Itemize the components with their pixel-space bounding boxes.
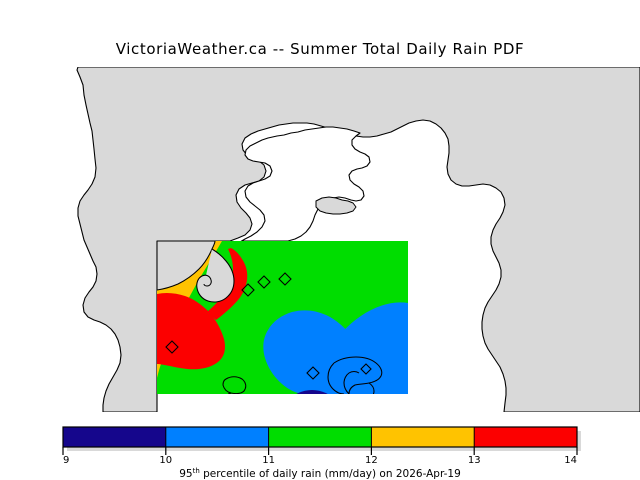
colorbar-caption-rest: percentile of daily rain (mm/day) on 202… [200,468,461,480]
colorbar-tick-label: 11 [262,455,275,466]
contour-field [146,241,408,412]
colorbar-svg: 9 10 11 12 13 14 95th percentile of dail… [0,418,640,480]
colorbar-segments [63,427,577,447]
colorbar-segment-13-14 [474,427,577,447]
colorbar-segment-11-12 [269,427,372,447]
colorbar-tick-label: 13 [468,455,481,466]
colorbar-caption: 95th percentile of daily rain (mm/day) o… [179,467,461,480]
map-panel [0,67,640,412]
colorbar-tick-label: 9 [63,455,69,466]
colorbar-segment-10-11 [166,427,269,447]
colorbar-panel: 9 10 11 12 13 14 95th percentile of dail… [0,418,640,480]
colorbar-segment-12-13 [371,427,474,447]
figure-title: VictoriaWeather.ca -- Summer Total Daily… [0,40,640,58]
colorbar-caption-prefix: 95 [179,468,192,480]
map-svg [0,67,640,412]
weather-map-figure: VictoriaWeather.ca -- Summer Total Daily… [0,0,640,480]
colorbar-segment-9-10 [63,427,166,447]
colorbar-tick-labels: 9 10 11 12 13 14 [63,455,577,466]
colorbar-caption-superscript: th [193,467,200,475]
colorbar-tick-label: 12 [365,455,378,466]
colorbar-tick-label: 14 [564,455,577,466]
colorbar-tick-label: 10 [159,455,172,466]
